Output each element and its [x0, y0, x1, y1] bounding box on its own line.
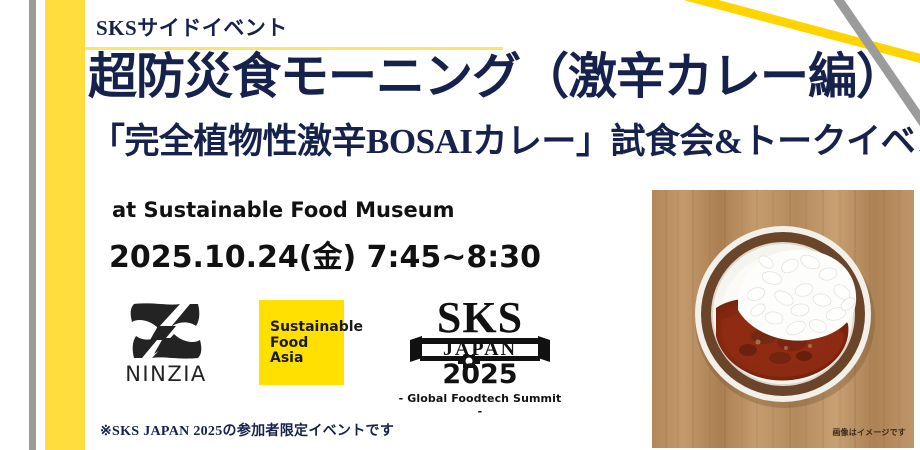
ninzia-wordmark: NINZIA	[106, 362, 226, 386]
sks-wordmark: SKS	[396, 296, 564, 340]
footnote-note: ※SKS JAPAN 2025の参加者限定イベントです	[100, 420, 394, 440]
sks-tagline: - Global Foodtech Summit -	[396, 392, 564, 418]
left-yellow-bar	[45, 0, 85, 450]
sfa-line-3: Asia	[270, 351, 363, 367]
left-gray-bar	[29, 0, 36, 450]
logo-row: NINZIA Sustainable Food Asia SKS JAPAN	[96, 294, 566, 410]
sfa-wordmark: Sustainable Food Asia	[270, 320, 363, 367]
photo-caption: 画像はイメージです	[832, 427, 906, 438]
ninzia-z-mark	[128, 300, 204, 362]
curry-photo-illustration	[652, 190, 914, 448]
sfa-line-2: Food	[270, 336, 363, 352]
logo-sks-japan: SKS JAPAN 2025 - Global Foodtech Summit …	[396, 296, 564, 408]
logo-sustainable-food-asia: Sustainable Food Asia	[259, 300, 344, 385]
sfa-line-1: Sustainable	[270, 320, 363, 336]
sks-year-label: 2025	[396, 360, 564, 390]
datetime-label: 2025.10.24(金) 7:45~8:30	[109, 232, 541, 276]
poster-canvas: SKSサイドイベント 超防災食モーニング（激辛カレー編） 「完全植物性激辛BOS…	[0, 0, 920, 450]
page-title: 超防災食モーニング（激辛カレー編）	[88, 52, 904, 101]
logo-ninzia: NINZIA	[106, 300, 226, 404]
curry-photo: 画像はイメージです	[652, 190, 914, 448]
event-kicker: SKSサイドイベント	[96, 12, 288, 42]
page-subtitle: 「完全植物性激辛BOSAIカレー」試食会&トークイベント	[90, 124, 920, 159]
venue-label: at Sustainable Food Museum	[112, 198, 455, 222]
